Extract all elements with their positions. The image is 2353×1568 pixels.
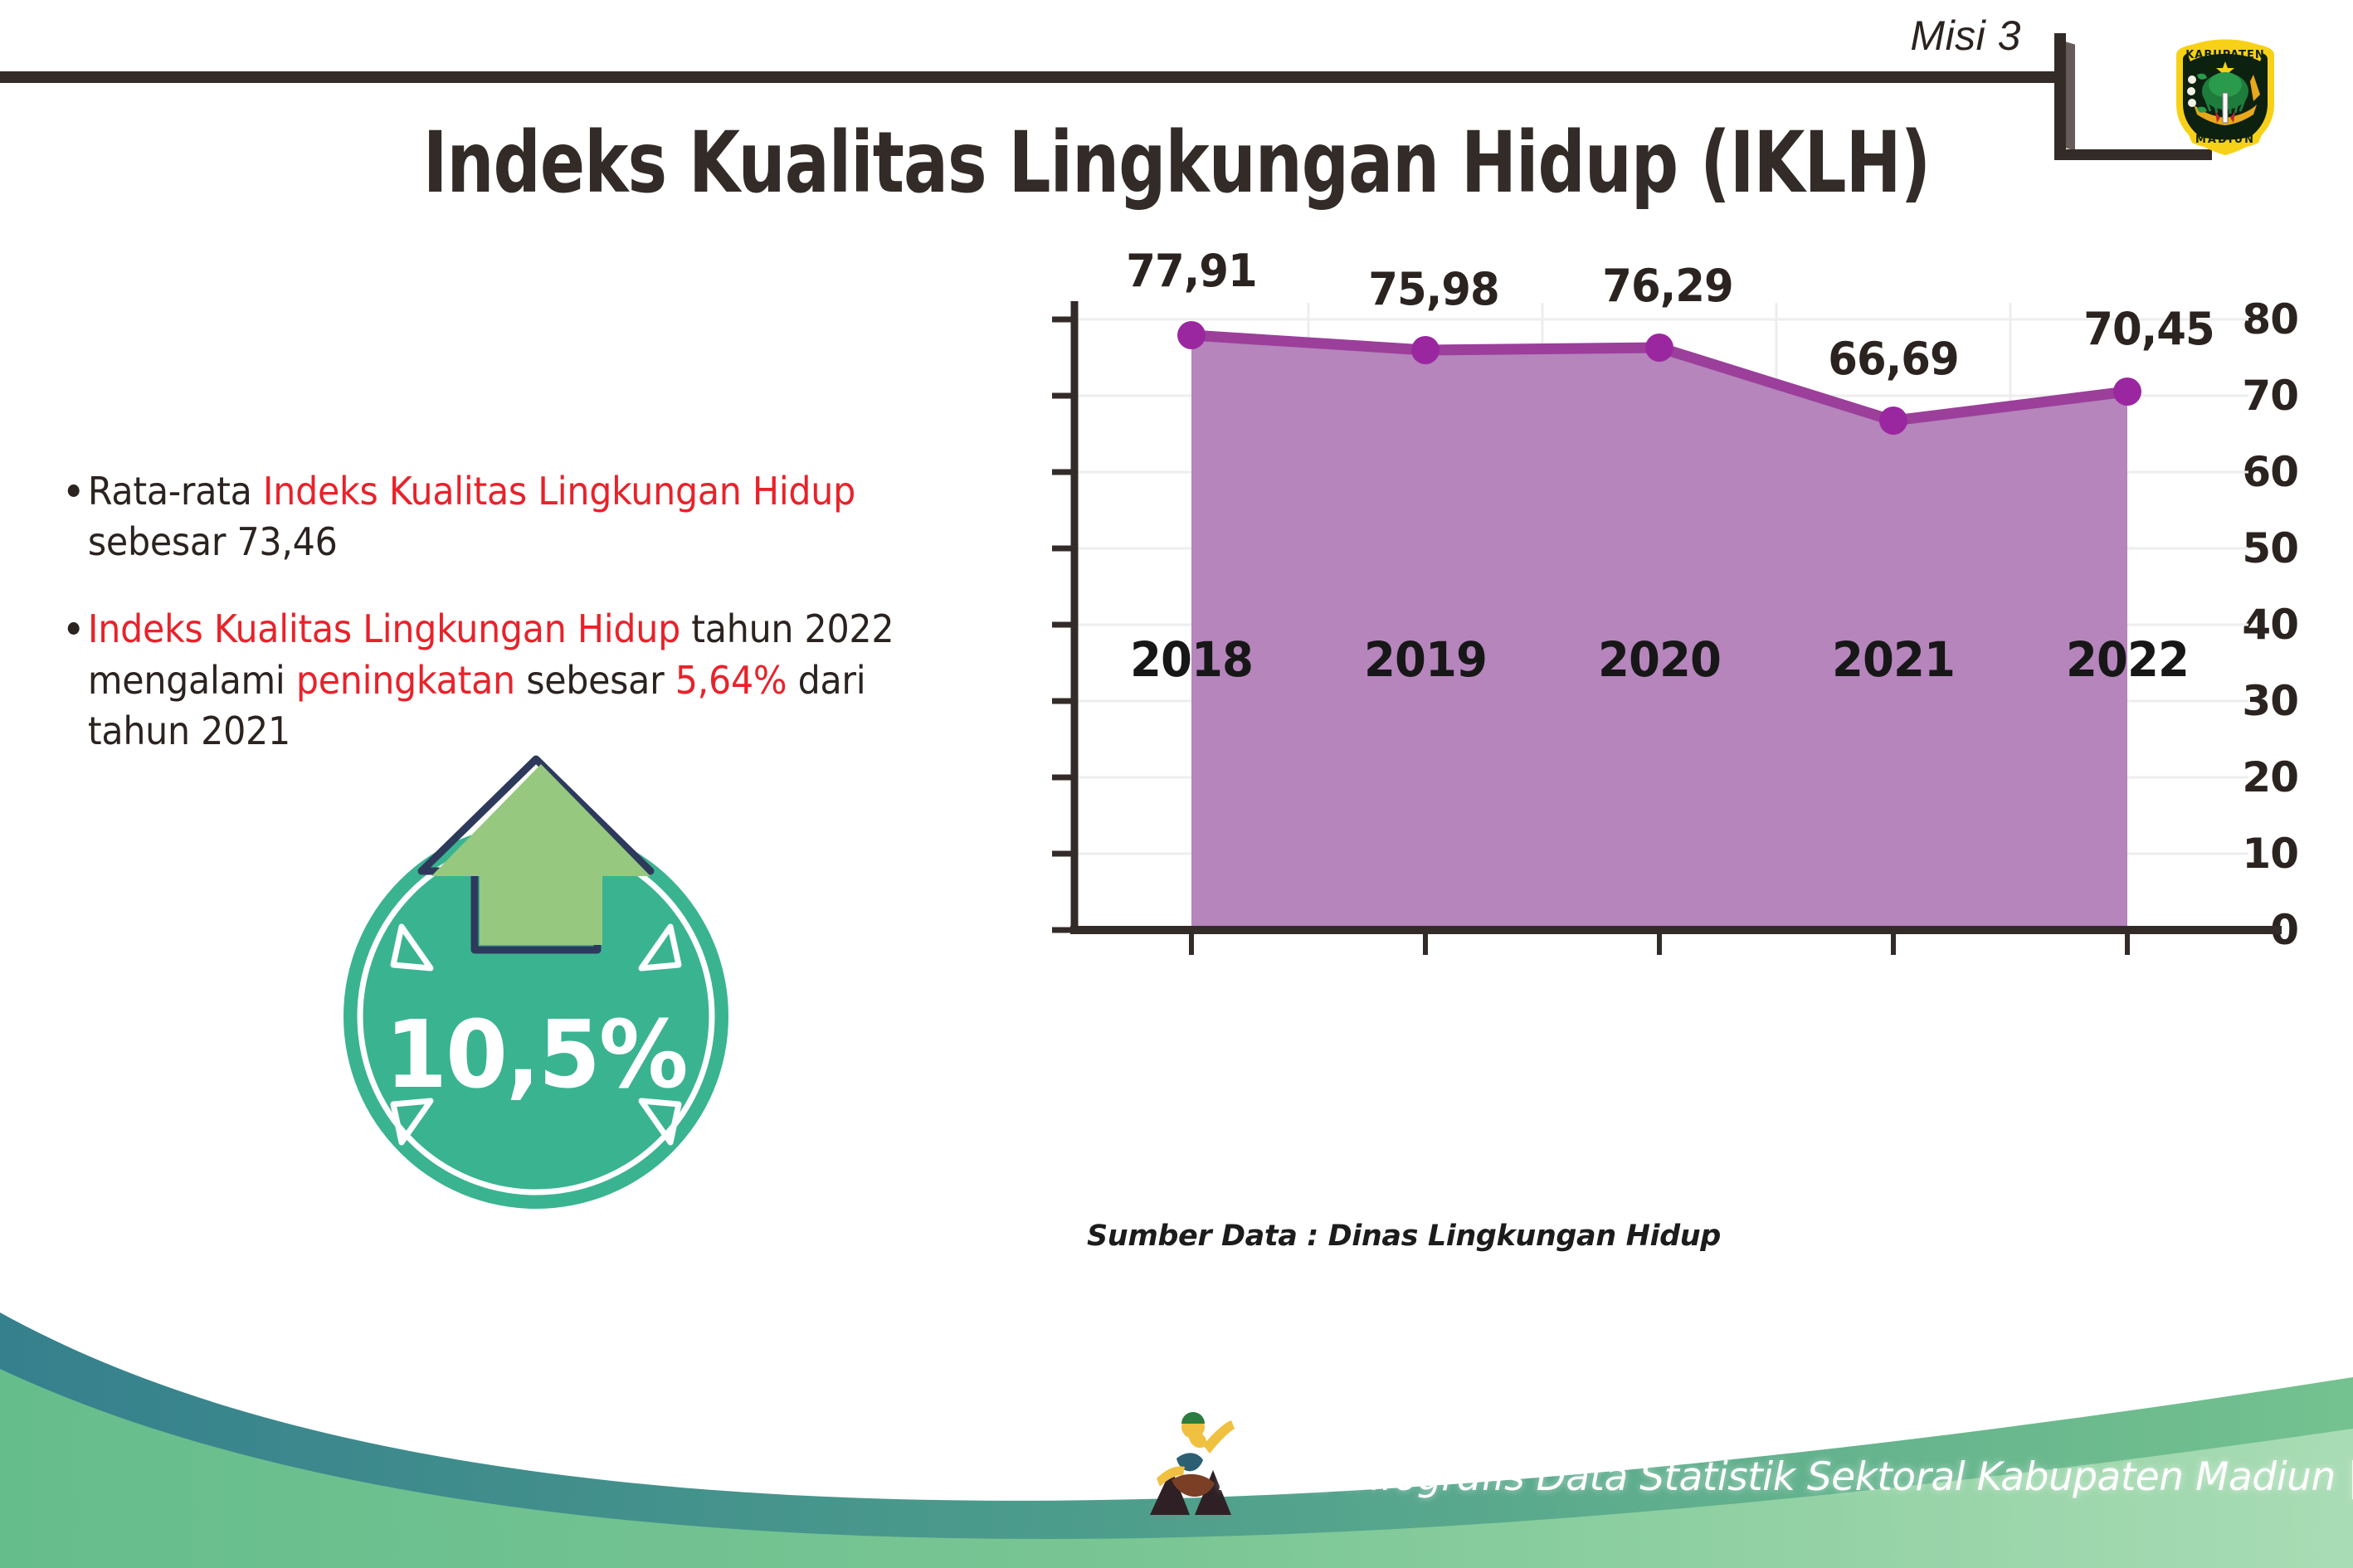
- bullet-seg-highlight: Indeks Kualitas Lingkungan Hidup: [263, 469, 855, 514]
- list-item: Rata-rata Indeks Kualitas Lingkungan Hid…: [65, 466, 898, 567]
- bullet-seg-highlight: Indeks Kualitas Lingkungan Hidup: [88, 606, 680, 651]
- bullet-seg-highlight: 5,64%: [675, 658, 787, 703]
- data-label: 76,29: [1602, 260, 1733, 312]
- bullet-list: Rata-rata Indeks Kualitas Lingkungan Hid…: [65, 466, 961, 793]
- x-tick-label: 2022: [2042, 631, 2214, 688]
- bullet-seg: sebesar 73,46: [88, 519, 338, 564]
- header-rule: [0, 71, 2066, 83]
- page-title: Indeks Kualitas Lingkungan Hidup (IKLH): [82, 114, 2270, 212]
- svg-text:KABUPATEN: KABUPATEN: [2185, 49, 2265, 61]
- bullet-seg-highlight: peningkatan: [296, 658, 515, 703]
- x-tick-label: 2021: [1808, 631, 1980, 688]
- badge-value: 10,5%: [329, 1001, 743, 1109]
- data-label: 77,91: [1126, 245, 1257, 297]
- data-label: 66,69: [1828, 333, 1959, 385]
- badge-graphic: [320, 751, 752, 1215]
- data-label: 75,98: [1368, 263, 1499, 315]
- misi-label: Misi 3: [1910, 12, 2021, 60]
- footer-text: Media Infografis Data Statistik Sektoral…: [1218, 1454, 2353, 1500]
- list-item: Indeks Kualitas Lingkungan Hidup tahun 2…: [65, 604, 898, 757]
- bullet-seg: Rata-rata: [88, 469, 263, 514]
- increase-badge: 10,5%: [320, 751, 752, 1215]
- x-tick-label: 2020: [1574, 631, 1746, 688]
- iklh-area-chart: 80 70 60 50 40 30 20 10 0: [954, 295, 2298, 1174]
- data-label: 70,45: [2083, 303, 2214, 355]
- bullet-seg: sebesar: [515, 658, 675, 703]
- x-tick-label: 2019: [1340, 631, 1512, 688]
- footer: Media Infografis Data Statistik Sektoral…: [0, 1278, 2353, 1568]
- infographic-slide: Misi 3 KABUPATEN MADIUN Indeks Kualitas: [0, 0, 2353, 1568]
- source-note: Sumber Data : Dinas Lingkungan Hidup: [1087, 1220, 1721, 1253]
- x-tick-label: 2018: [1106, 631, 1278, 688]
